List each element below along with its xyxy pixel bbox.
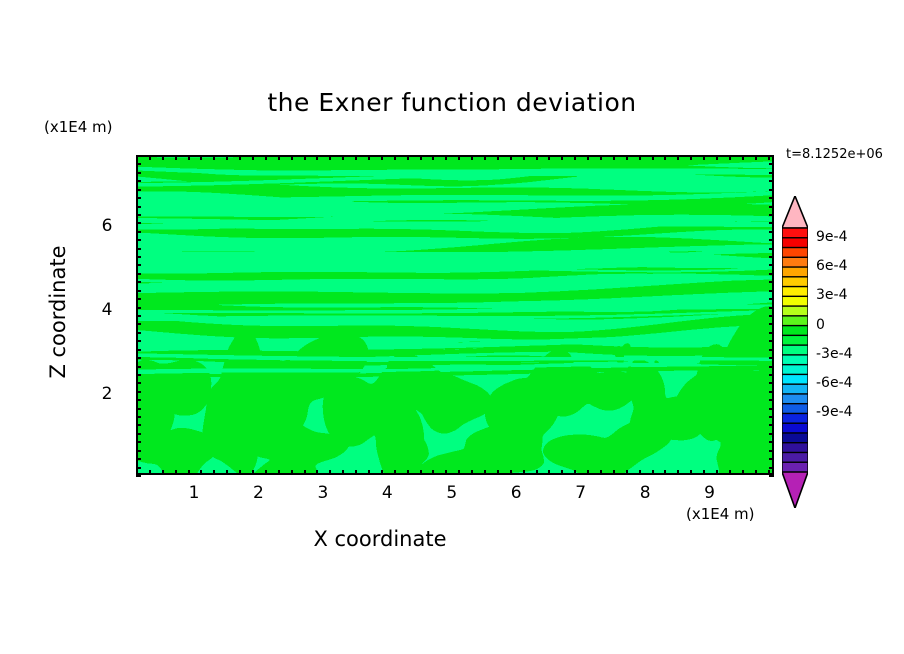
colorbar-band — [782, 257, 808, 267]
tick-mark — [769, 475, 774, 477]
colorbar-band — [782, 462, 808, 472]
y-axis-unit-label: (x1E4 m) — [44, 118, 113, 136]
x-tick-label-7: 7 — [561, 483, 601, 503]
colorbar-tick-label-0: 9e-4 — [816, 229, 847, 245]
colorbar-band — [782, 326, 808, 336]
colorbar-tick-label-1: 6e-4 — [816, 258, 847, 274]
x-tick-label-5: 5 — [432, 483, 472, 503]
colorbar[interactable] — [782, 196, 808, 508]
y-tick-label-2: 2 — [92, 384, 122, 404]
page-title: the Exner function deviation — [0, 88, 904, 117]
y-axis-title: Z coordinate — [46, 182, 70, 442]
colorbar-band — [782, 296, 808, 306]
colorbar-band — [782, 374, 808, 384]
contour-plot-area[interactable] — [136, 155, 774, 475]
colorbar-band — [782, 248, 808, 258]
x-tick-label-2: 2 — [238, 483, 278, 503]
x-tick-label-8: 8 — [625, 483, 665, 503]
x-axis-title: X coordinate — [0, 527, 760, 551]
colorbar-tick-label-3: 0 — [816, 317, 825, 333]
colorbar-over-arrow — [782, 196, 808, 228]
colorbar-band — [782, 413, 808, 423]
tick-mark — [136, 475, 141, 477]
colorbar-band — [782, 306, 808, 316]
x-tick-label-9: 9 — [690, 483, 730, 503]
colorbar-band — [782, 433, 808, 443]
colorbar-band — [782, 355, 808, 365]
x-tick-label-6: 6 — [496, 483, 536, 503]
colorbar-band — [782, 287, 808, 297]
colorbar-band — [782, 228, 808, 238]
colorbar-band — [782, 404, 808, 414]
colorbar-band — [782, 384, 808, 394]
colorbar-band — [782, 365, 808, 375]
colorbar-band — [782, 277, 808, 287]
colorbar-tick-label-5: -6e-4 — [816, 375, 853, 391]
colorbar-band — [782, 335, 808, 345]
x-tick-label-1: 1 — [174, 483, 214, 503]
colorbar-tick-label-2: 3e-4 — [816, 287, 847, 303]
colorbar-tick-label-6: -9e-4 — [816, 404, 853, 420]
y-tick-label-6: 6 — [92, 216, 122, 236]
colorbar-band — [782, 452, 808, 462]
colorbar-tick-label-4: -3e-4 — [816, 346, 853, 362]
colorbar-band — [782, 443, 808, 453]
x-axis-unit-label: (x1E4 m) — [686, 505, 755, 523]
colorbar-band — [782, 267, 808, 277]
colorbar-under-arrow — [782, 472, 808, 508]
colorbar-band — [782, 345, 808, 355]
colorbar-band — [782, 423, 808, 433]
y-tick-label-4: 4 — [92, 300, 122, 320]
x-tick-label-3: 3 — [303, 483, 343, 503]
colorbar-band — [782, 238, 808, 248]
x-tick-label-4: 4 — [367, 483, 407, 503]
colorbar-band — [782, 394, 808, 404]
timestamp-annotation: t=8.1252e+06 — [786, 147, 883, 162]
colorbar-band — [782, 316, 808, 326]
